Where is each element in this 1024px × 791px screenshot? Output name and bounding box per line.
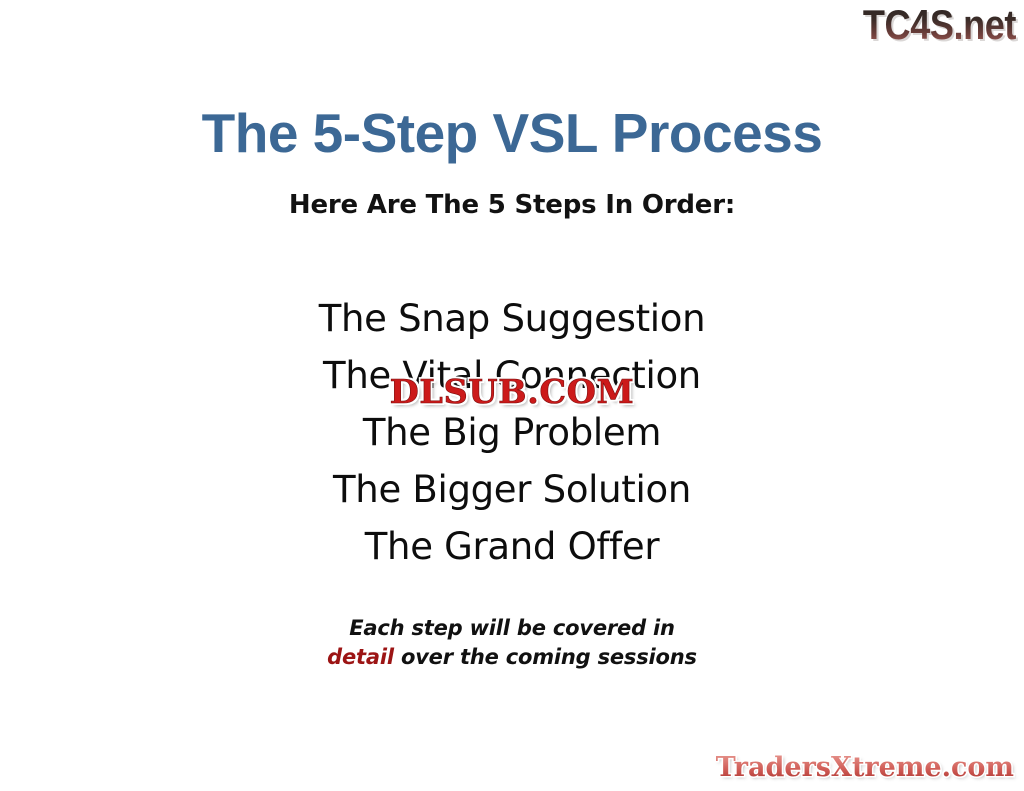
- site-logo-tradersxtreme: TradersXtreme.com TradersXtreme.com: [716, 751, 1014, 785]
- steps-list: The Snap Suggestion The Vital Connection…: [0, 290, 1024, 575]
- footer-note-highlight: detail: [327, 645, 394, 669]
- list-item: The Vital Connection: [0, 347, 1024, 404]
- subtitle: Here Are The 5 Steps In Order:: [0, 189, 1024, 221]
- footer-note-line-2: detail over the coming sessions: [0, 643, 1024, 672]
- brand-logo-text: TC4S.net: [863, 2, 1016, 48]
- slide-canvas: TC4S.net TC4S.net The 5-Step VSL Process…: [0, 0, 1024, 791]
- footer-note-line-2-rest: over the coming sessions: [394, 645, 697, 669]
- list-item: The Big Problem: [0, 404, 1024, 461]
- page-title: The 5-Step VSL Process: [0, 102, 1024, 164]
- footer-note: Each step will be covered in detail over…: [0, 614, 1024, 672]
- footer-note-line-1: Each step will be covered in: [0, 614, 1024, 643]
- list-item: The Snap Suggestion: [0, 290, 1024, 347]
- list-item: The Grand Offer: [0, 518, 1024, 575]
- site-logo-text: TradersXtreme.com: [716, 751, 1014, 785]
- list-item: The Bigger Solution: [0, 461, 1024, 518]
